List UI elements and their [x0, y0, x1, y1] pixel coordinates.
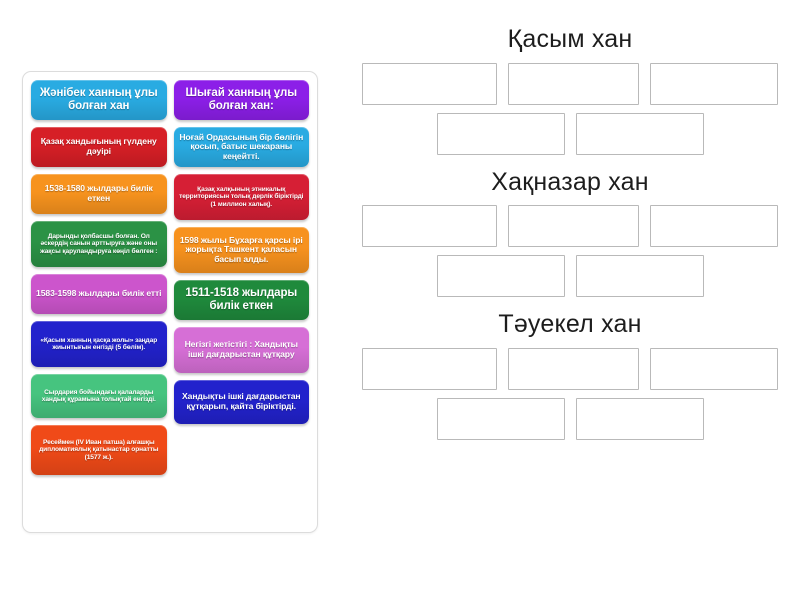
tiles-columns: Жәнібек ханның ұлы болған хан Қазақ ханд… — [31, 80, 309, 524]
answer-group-tauekel: Тәуекел хан — [345, 305, 795, 440]
draggable-tile[interactable]: Шығай ханның ұлы болған хан: — [174, 80, 310, 120]
drop-slot[interactable] — [650, 205, 778, 247]
answer-group-haknazar: Хақназар хан — [345, 163, 795, 298]
drop-slot[interactable] — [437, 398, 565, 440]
draggable-tile[interactable]: Негізгі жетістігі : Хандықты ішкі дағдар… — [174, 327, 310, 373]
drop-slot-row — [345, 348, 795, 390]
group-title: Қасым хан — [345, 20, 795, 63]
answer-group-kasym: Қасым хан — [345, 20, 795, 155]
draggable-tile[interactable]: Дарынды қолбасшы болған. Ол әскердің сан… — [31, 221, 167, 267]
draggable-tile[interactable]: 1538-1580 жылдары билік еткен — [31, 174, 167, 214]
drop-slot-row — [345, 398, 795, 440]
drop-slot-row — [345, 205, 795, 247]
drop-slot[interactable] — [437, 113, 565, 155]
drop-slot-row — [345, 255, 795, 297]
drop-slot[interactable] — [362, 205, 497, 247]
tiles-panel: Жәнібек ханның ұлы болған хан Қазақ ханд… — [22, 71, 318, 533]
drop-slot[interactable] — [508, 63, 639, 105]
draggable-tile[interactable]: Сырдария бойындағы қалаларды хандық құра… — [31, 374, 167, 418]
draggable-tile[interactable]: Ноғай Ордасының бір бөлігін қосып, батыс… — [174, 127, 310, 167]
draggable-tile[interactable]: Жәнібек ханның ұлы болған хан — [31, 80, 167, 120]
drop-slot-row — [345, 113, 795, 155]
drop-slot[interactable] — [508, 205, 639, 247]
draggable-tile[interactable]: 1583-1598 жылдары билік етті — [31, 274, 167, 314]
drop-slot[interactable] — [576, 113, 704, 155]
activity-canvas: Жәнібек ханның ұлы болған хан Қазақ ханд… — [0, 0, 800, 600]
drop-slot[interactable] — [650, 348, 778, 390]
drop-slot[interactable] — [362, 348, 497, 390]
draggable-tile[interactable]: Хандықты ішкі дағдарыстан құтқарып, қайт… — [174, 380, 310, 424]
drop-slot[interactable] — [576, 255, 704, 297]
draggable-tile[interactable]: Ресеймен (IV Иван патша) алғашқы диплома… — [31, 425, 167, 475]
group-title: Тәуекел хан — [345, 305, 795, 348]
drop-slot[interactable] — [362, 63, 497, 105]
tiles-column-right: Шығай ханның ұлы болған хан: Ноғай Ордас… — [174, 80, 310, 424]
draggable-tile[interactable]: 1598 жылы Бұхарға қарсы ірі жорықта Ташк… — [174, 227, 310, 273]
drop-slot[interactable] — [650, 63, 778, 105]
draggable-tile[interactable]: «Қасым ханның қасқа жолы» заңдар жиынтығ… — [31, 321, 167, 367]
group-title: Хақназар хан — [345, 163, 795, 206]
drop-slot[interactable] — [576, 398, 704, 440]
draggable-tile[interactable]: Қазақ халқының этникалық территориясын т… — [174, 174, 310, 220]
tiles-column-left: Жәнібек ханның ұлы болған хан Қазақ ханд… — [31, 80, 167, 475]
draggable-tile[interactable]: 1511-1518 жылдары билік еткен — [174, 280, 310, 320]
drop-slot-row — [345, 63, 795, 105]
draggable-tile[interactable]: Қазақ хандығының гүлдену дәуірі — [31, 127, 167, 167]
answer-groups: Қасым хан Хақназар хан — [345, 20, 795, 580]
drop-slot[interactable] — [508, 348, 639, 390]
drop-slot[interactable] — [437, 255, 565, 297]
